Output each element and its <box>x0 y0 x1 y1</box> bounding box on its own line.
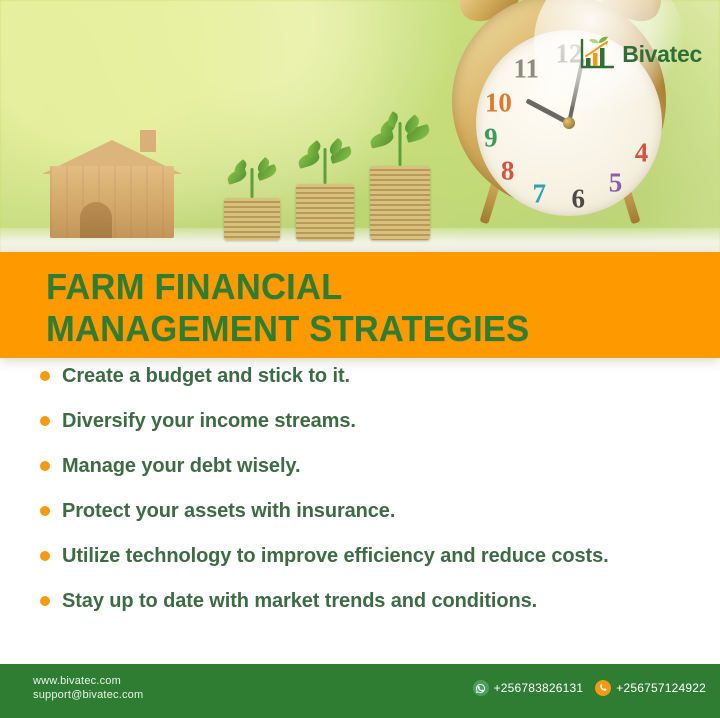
whatsapp-contact[interactable]: +256783826131 <box>473 680 584 696</box>
clock-center-pin <box>563 117 575 129</box>
whatsapp-icon <box>473 680 489 696</box>
phone-contact[interactable]: +256757124922 <box>595 680 706 696</box>
bullet-dot-icon <box>40 596 50 606</box>
phone-number: +256757124922 <box>616 681 706 695</box>
clock-numeral: 7 <box>532 180 546 207</box>
website-link[interactable]: www.bivatec.com <box>33 674 143 688</box>
tip-text: Protect your assets with insurance. <box>62 497 395 525</box>
tip-text: Create a budget and stick to it. <box>62 362 350 390</box>
clock-numeral: 6 <box>572 186 586 213</box>
email-link[interactable]: support@bivatec.com <box>33 688 143 702</box>
coin-stack-small <box>224 198 280 240</box>
alarm-clock: 12 11 10 9 8 7 6 5 4 <box>442 0 678 208</box>
coin-stack-medium <box>296 184 354 240</box>
wooden-house-figurine <box>42 138 182 238</box>
clock-numeral: 10 <box>485 89 512 116</box>
hero-photo: 12 11 10 9 8 7 6 5 4 <box>0 0 720 262</box>
seedling-icon <box>225 164 279 198</box>
clock-numeral: 11 <box>513 56 539 83</box>
clock-numeral: 5 <box>609 169 623 196</box>
page-title: FARM FINANCIAL MANAGEMENT STRATEGIES <box>46 266 529 350</box>
seedling-icon <box>370 118 430 166</box>
footer-phone-block: +256783826131 +256757124922 <box>473 680 706 696</box>
poster: 12 11 10 9 8 7 6 5 4 <box>0 0 720 718</box>
clock-numeral: 8 <box>501 158 515 185</box>
list-item: Protect your assets with insurance. <box>0 497 720 537</box>
bivatec-logo: Bivatec <box>577 34 702 74</box>
bullet-dot-icon <box>40 506 50 516</box>
list-item: Manage your debt wisely. <box>0 452 720 492</box>
clock-numeral: 9 <box>484 124 498 151</box>
list-item: Stay up to date with market trends and c… <box>0 587 720 627</box>
footer-bar: www.bivatec.com support@bivatec.com +256… <box>0 664 720 718</box>
bullet-dot-icon <box>40 371 50 381</box>
tip-text: Utilize technology to improve efficiency… <box>62 542 609 570</box>
title-banner: FARM FINANCIAL MANAGEMENT STRATEGIES <box>0 252 720 358</box>
tip-text: Stay up to date with market trends and c… <box>62 587 537 615</box>
seedling-icon <box>297 144 353 184</box>
tip-text: Manage your debt wisely. <box>62 452 300 480</box>
whatsapp-number: +256783826131 <box>494 681 584 695</box>
list-item: Create a budget and stick to it. <box>0 362 720 402</box>
bar-chart-leaf-logo-icon <box>577 34 617 74</box>
bullet-dot-icon <box>40 461 50 471</box>
bullet-dot-icon <box>40 416 50 426</box>
phone-icon <box>595 680 611 696</box>
tip-text: Diversify your income streams. <box>62 407 356 435</box>
list-item: Utilize technology to improve efficiency… <box>0 542 720 582</box>
bullet-dot-icon <box>40 551 50 561</box>
coin-stack-large <box>370 166 430 240</box>
clock-numeral: 4 <box>635 139 649 166</box>
tips-list: Create a budget and stick to it. Diversi… <box>0 362 720 632</box>
list-item: Diversify your income streams. <box>0 407 720 447</box>
logo-wordmark: Bivatec <box>622 41 702 68</box>
footer-contact-block: www.bivatec.com support@bivatec.com <box>33 674 143 702</box>
